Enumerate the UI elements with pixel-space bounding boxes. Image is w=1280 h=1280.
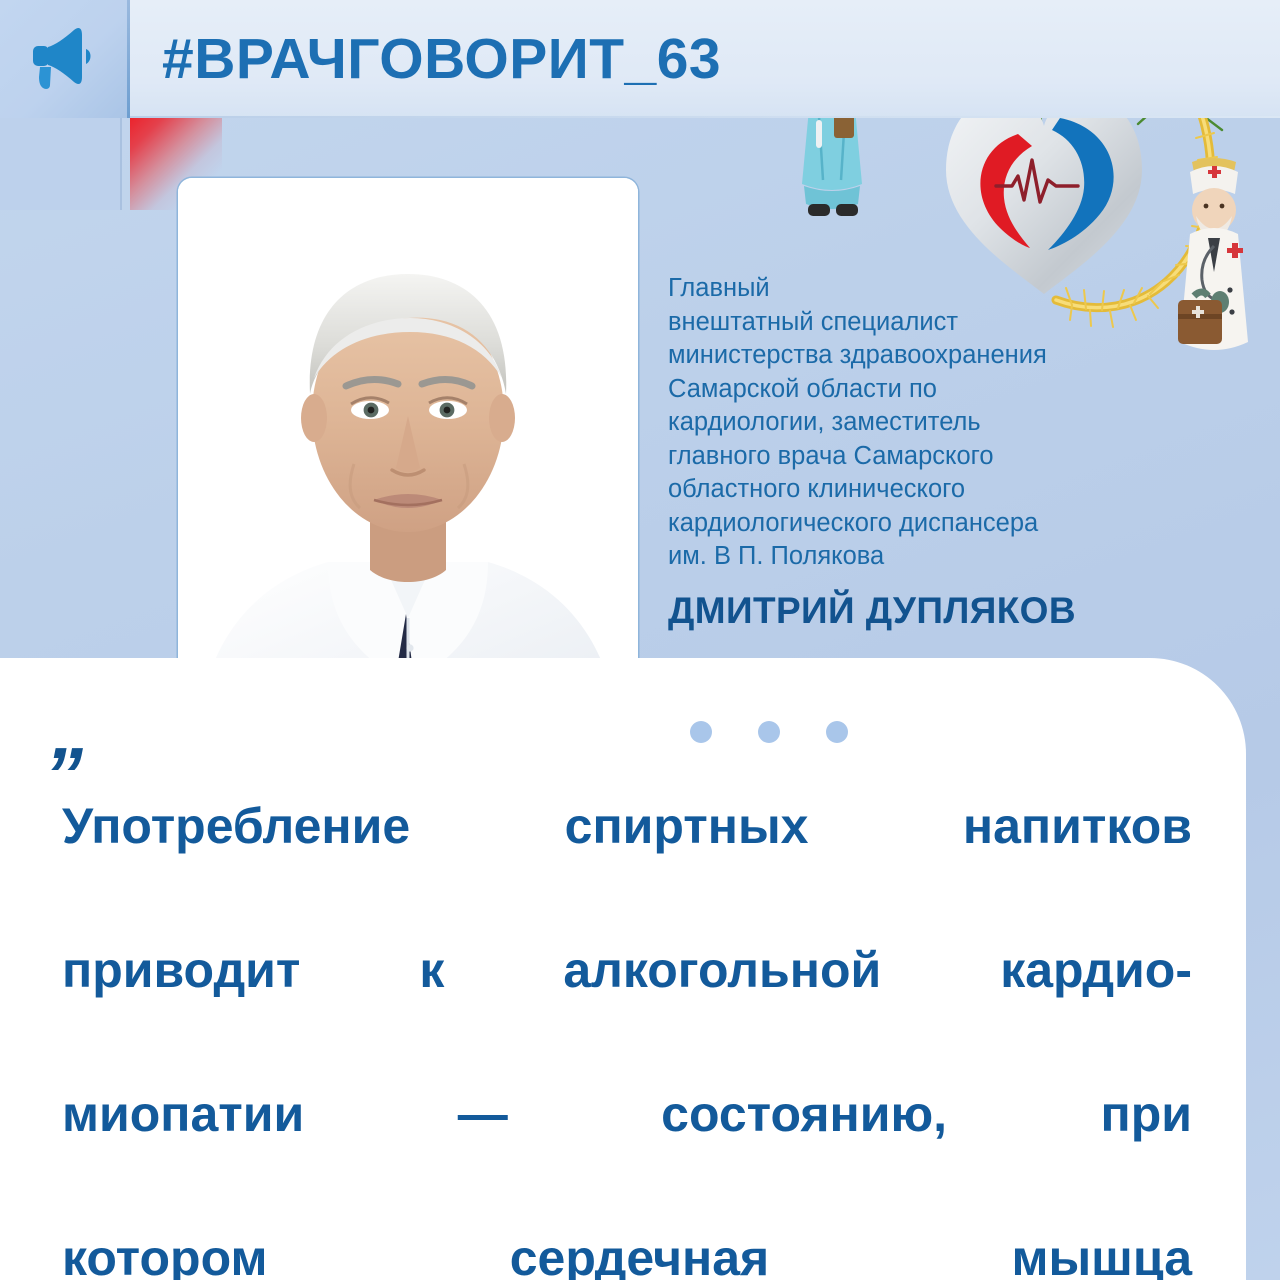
dot bbox=[826, 721, 848, 743]
dot bbox=[758, 721, 780, 743]
quote-text: Употребление спиртных напитков приводит … bbox=[62, 790, 1192, 1280]
poster-canvas: #ВРАЧГОВОРИТ_63 bbox=[0, 0, 1280, 1280]
quote-line: приводит к алкогольной кардио- bbox=[62, 934, 1192, 1078]
hashtag-title: #ВРАЧГОВОРИТ_63 bbox=[162, 26, 721, 92]
bio-line: кардиологии, заместитель bbox=[668, 406, 1208, 440]
doctor-name: ДМИТРИЙ ДУПЛЯКОВ bbox=[668, 590, 1208, 632]
bio-line: Главный bbox=[668, 272, 1208, 306]
bio-line: им. В П. Полякова bbox=[668, 540, 1208, 574]
bio-line: главного врача Самарского bbox=[668, 440, 1208, 474]
megaphone-icon bbox=[28, 27, 102, 91]
bio-line: Самарской области по bbox=[668, 373, 1208, 407]
header-band: #ВРАЧГОВОРИТ_63 bbox=[0, 0, 1280, 118]
quote-line: котором сердечная мышца bbox=[62, 1222, 1192, 1280]
bio-line: внештатный специалист bbox=[668, 306, 1208, 340]
bio-line: кардиологического диспансера bbox=[668, 507, 1208, 541]
decoration-dots bbox=[690, 721, 848, 743]
dot bbox=[690, 721, 712, 743]
bio-line: областного клинического bbox=[668, 473, 1208, 507]
left-rail bbox=[0, 118, 122, 210]
quote-line: миопатии — состоянию, при bbox=[62, 1078, 1192, 1222]
quote-line: Употребление спиртных напитков bbox=[62, 790, 1192, 934]
bio-line: министерства здравоохранения bbox=[668, 339, 1208, 373]
bio-block: Главный внештатный специалист министерст… bbox=[668, 272, 1208, 632]
megaphone-cell bbox=[0, 0, 130, 118]
header-title-cell: #ВРАЧГОВОРИТ_63 bbox=[130, 0, 1280, 118]
